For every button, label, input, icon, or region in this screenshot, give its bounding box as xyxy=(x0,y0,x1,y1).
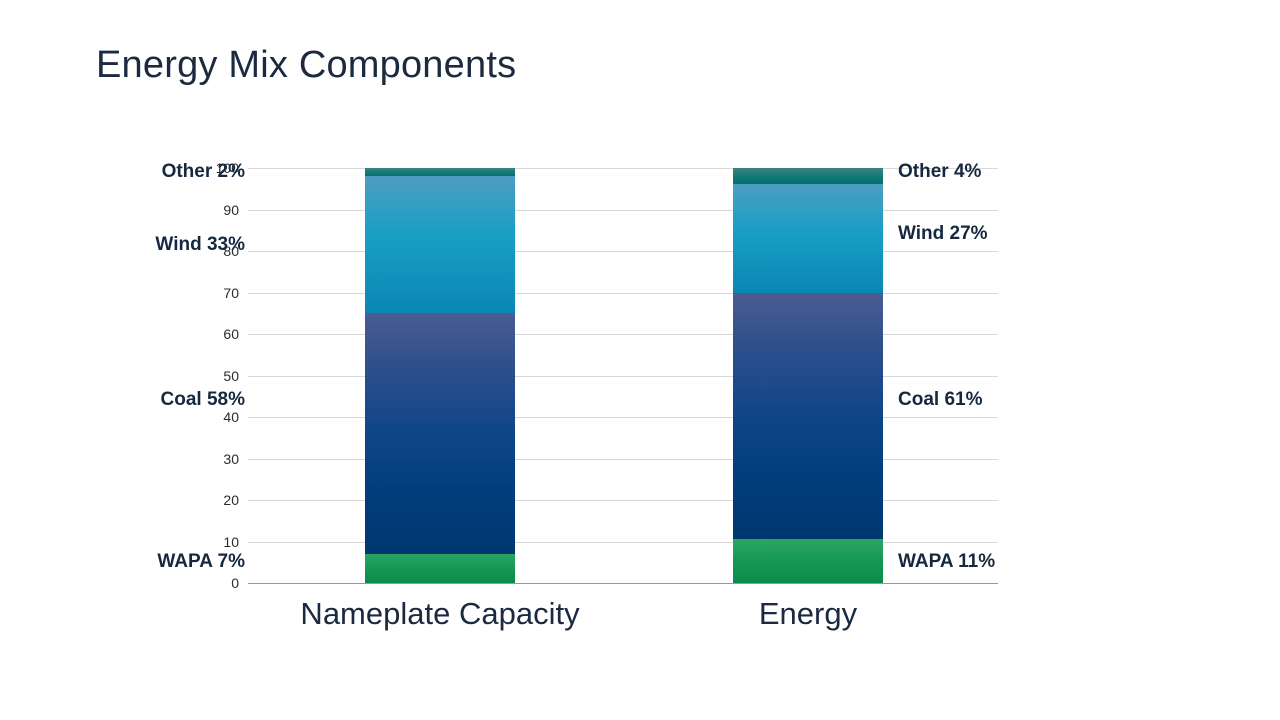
gridline-50: 50 xyxy=(248,376,998,377)
y-tick-label: 30 xyxy=(223,451,239,467)
gridline-100: 100 xyxy=(248,168,998,169)
y-tick-label: 20 xyxy=(223,492,239,508)
data-label-coal-nameplate: Coal 58% xyxy=(161,389,245,411)
bar-segment-wapa[interactable] xyxy=(365,554,515,583)
y-tick-label: 70 xyxy=(223,285,239,301)
data-label-wapa-nameplate: WAPA 7% xyxy=(157,551,245,573)
data-label-other-nameplate: Other 2% xyxy=(162,161,245,183)
category-label-energy: Energy xyxy=(759,596,857,632)
y-tick-label: 10 xyxy=(223,534,239,550)
y-tick-label: 90 xyxy=(223,202,239,218)
gridline-80: 80 xyxy=(248,251,998,252)
bar-segment-wapa[interactable] xyxy=(733,539,883,583)
bar-segment-wind[interactable] xyxy=(733,184,883,293)
stacked-bar-nameplate-capacity[interactable] xyxy=(365,168,515,583)
category-label-nameplate-capacity: Nameplate Capacity xyxy=(300,596,579,632)
y-tick-label: 60 xyxy=(223,326,239,342)
data-label-wind-energy: Wind 27% xyxy=(898,223,988,245)
bar-segment-other[interactable] xyxy=(733,168,883,184)
data-label-wind-nameplate: Wind 33% xyxy=(155,234,245,256)
gridline-60: 60 xyxy=(248,334,998,335)
bar-segment-other[interactable] xyxy=(365,168,515,176)
chart-plot-area: 100 90 80 70 60 50 40 30 xyxy=(248,168,998,583)
y-tick-label: 0 xyxy=(231,575,239,591)
stacked-bar-energy[interactable] xyxy=(733,168,883,583)
y-tick-label: 50 xyxy=(223,368,239,384)
gridline-40: 40 xyxy=(248,417,998,418)
bar-segment-wind[interactable] xyxy=(365,176,515,313)
data-label-coal-energy: Coal 61% xyxy=(898,389,982,411)
gridline-10: 10 xyxy=(248,542,998,543)
gridline-20: 20 xyxy=(248,500,998,501)
gridline-90: 90 xyxy=(248,210,998,211)
y-tick-label: 40 xyxy=(223,409,239,425)
chart-gridlines: 100 90 80 70 60 50 40 30 xyxy=(248,168,998,583)
gridline-30: 30 xyxy=(248,459,998,460)
gridline-0: 0 xyxy=(248,583,998,584)
data-label-wapa-energy: WAPA 11% xyxy=(898,551,995,573)
page-title: Energy Mix Components xyxy=(96,44,516,87)
bar-segment-coal[interactable] xyxy=(365,313,515,554)
slide-canvas: Energy Mix Components 100 90 80 70 60 50 xyxy=(0,0,1280,720)
data-label-other-energy: Other 4% xyxy=(898,161,981,183)
gridline-70: 70 xyxy=(248,293,998,294)
bar-segment-coal[interactable] xyxy=(733,293,883,539)
